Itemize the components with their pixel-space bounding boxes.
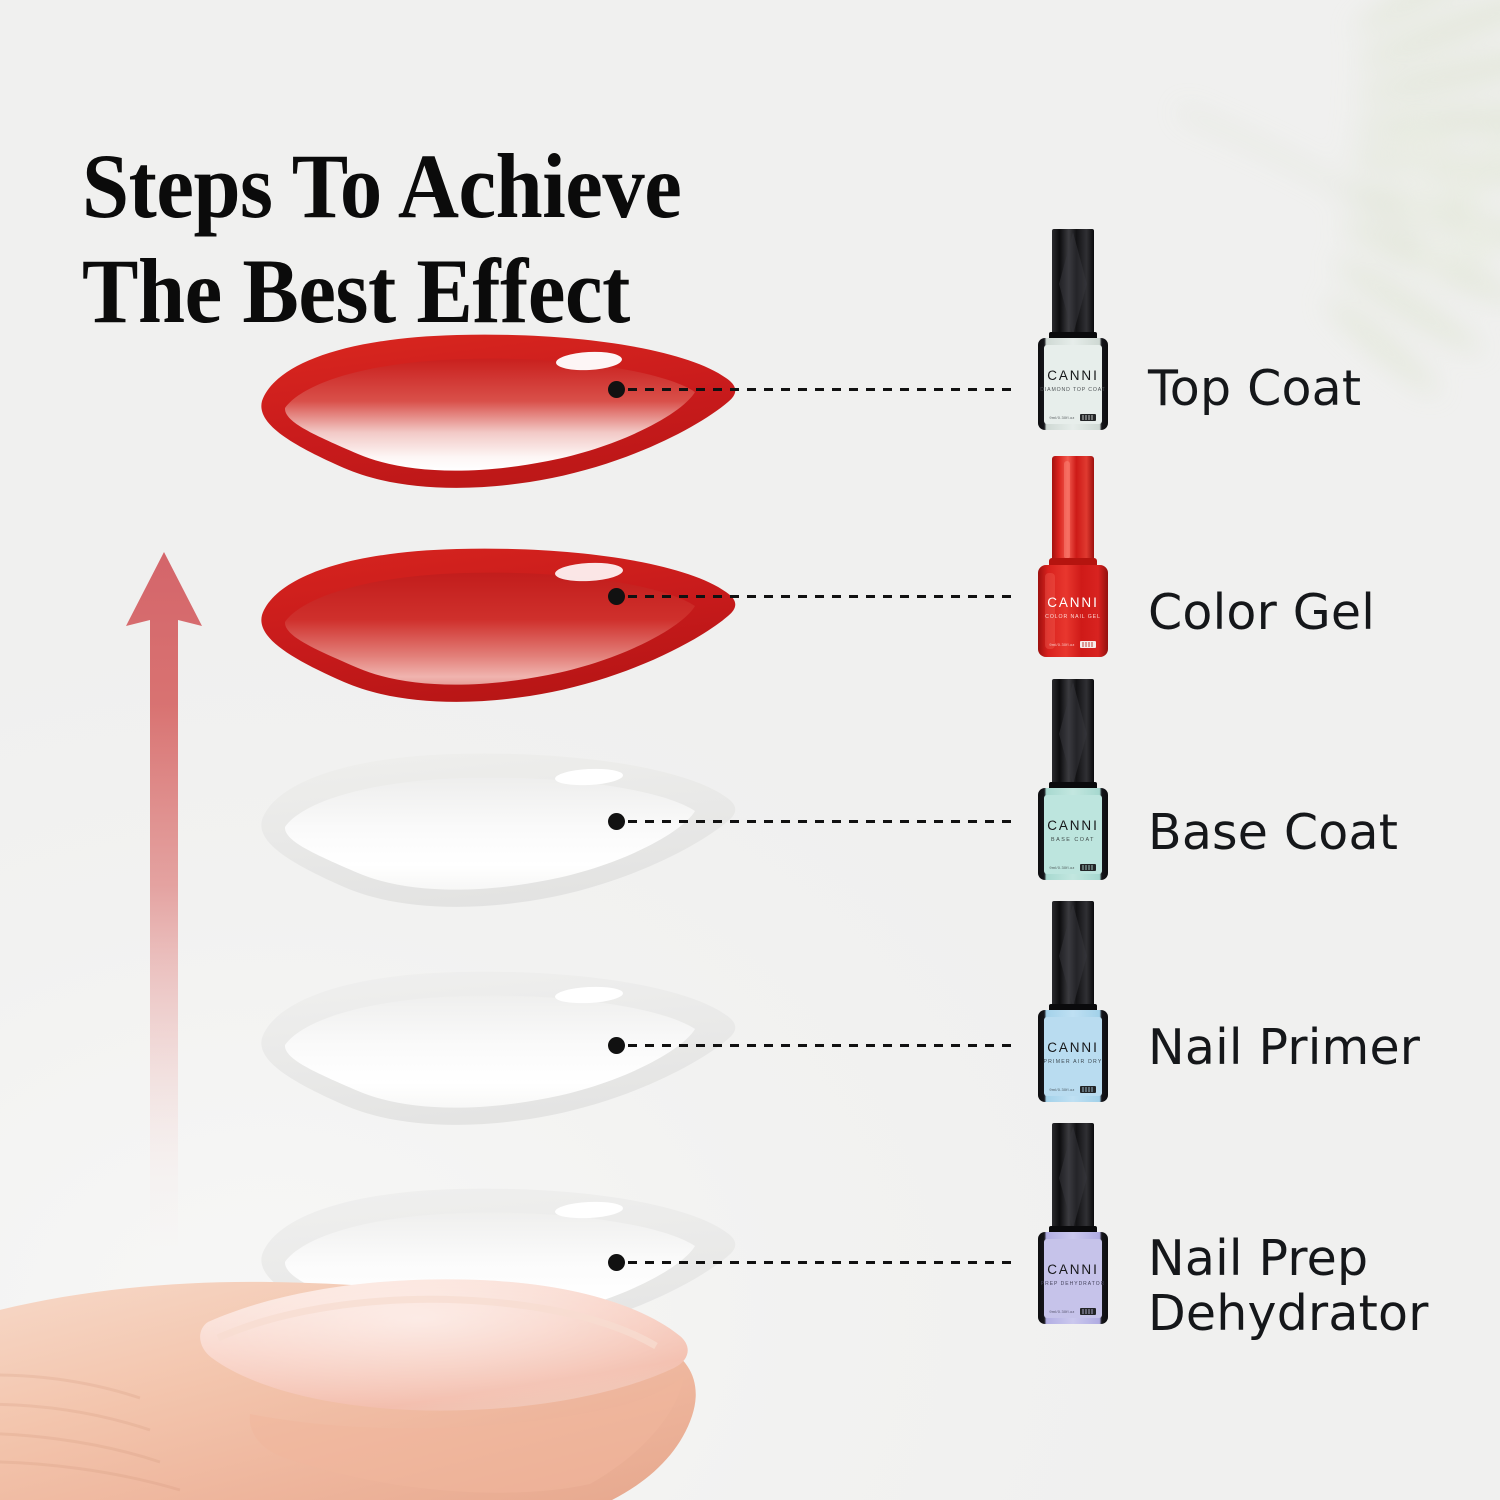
- page-title: Steps To Achieve The Best Effect: [82, 134, 892, 344]
- bottle-top-coat[interactable]: CANNI DIAMOND TOP COAT 9ml/0.30fl.oz: [1018, 228, 1128, 433]
- svg-text:9ml/0.30fl.oz: 9ml/0.30fl.oz: [1049, 642, 1074, 647]
- step-label-top-coat: Top Coat: [1148, 362, 1361, 417]
- step-label-nail-prep-dehydrator: Nail Prep Dehydrator: [1148, 1232, 1429, 1342]
- step-label-base-coat: Base Coat: [1148, 806, 1398, 861]
- nail-layer-base-coat: [252, 745, 742, 915]
- svg-text:CANNI: CANNI: [1047, 1040, 1099, 1055]
- svg-text:9ml/0.30fl.oz: 9ml/0.30fl.oz: [1049, 865, 1074, 870]
- nail-layer-color-gel: [252, 540, 742, 710]
- infographic-canvas: Steps To Achieve The Best Effect: [0, 0, 1500, 1500]
- bottle-nail-primer[interactable]: CANNI PRIMER AIR DRY 9ml/0.30fl.oz: [1018, 900, 1128, 1105]
- svg-text:9ml/0.30fl.oz: 9ml/0.30fl.oz: [1049, 1087, 1074, 1092]
- bottle-color-gel[interactable]: CANNI COLOR NAIL GEL 9ml/0.30fl.oz: [1018, 455, 1128, 660]
- svg-text:CANNI: CANNI: [1047, 1262, 1099, 1277]
- step-label-nail-primer: Nail Primer: [1148, 1021, 1420, 1076]
- svg-text:COLOR NAIL GEL: COLOR NAIL GEL: [1045, 614, 1101, 620]
- nail-layer-prep-dehydrator: [252, 1180, 742, 1350]
- bottle-nail-prep-dehydrator[interactable]: CANNI PREP DEHYDRATOR 9ml/0.30fl.oz: [1018, 1122, 1128, 1327]
- svg-text:CANNI: CANNI: [1047, 368, 1099, 383]
- nail-layer-primer: [252, 963, 742, 1133]
- blurred-palm-leaf-icon: [1120, 0, 1500, 400]
- svg-text:CANNI: CANNI: [1047, 595, 1099, 610]
- svg-text:9ml/0.30fl.oz: 9ml/0.30fl.oz: [1049, 415, 1074, 420]
- svg-text:DIAMOND TOP COAT: DIAMOND TOP COAT: [1040, 387, 1105, 393]
- svg-text:PRIMER AIR DRY: PRIMER AIR DRY: [1043, 1059, 1102, 1065]
- svg-text:PREP DEHYDRATOR: PREP DEHYDRATOR: [1041, 1281, 1105, 1287]
- step-label-color-gel: Color Gel: [1148, 586, 1375, 641]
- bottle-base-coat[interactable]: CANNI BASE COAT 9ml/0.30fl.oz: [1018, 678, 1128, 883]
- svg-text:CANNI: CANNI: [1047, 818, 1099, 833]
- nail-layer-top-coat: [252, 326, 742, 496]
- svg-text:BASE COAT: BASE COAT: [1051, 837, 1095, 843]
- svg-text:9ml/0.30fl.oz: 9ml/0.30fl.oz: [1049, 1309, 1074, 1314]
- upward-progress-arrow-icon: [118, 548, 210, 1248]
